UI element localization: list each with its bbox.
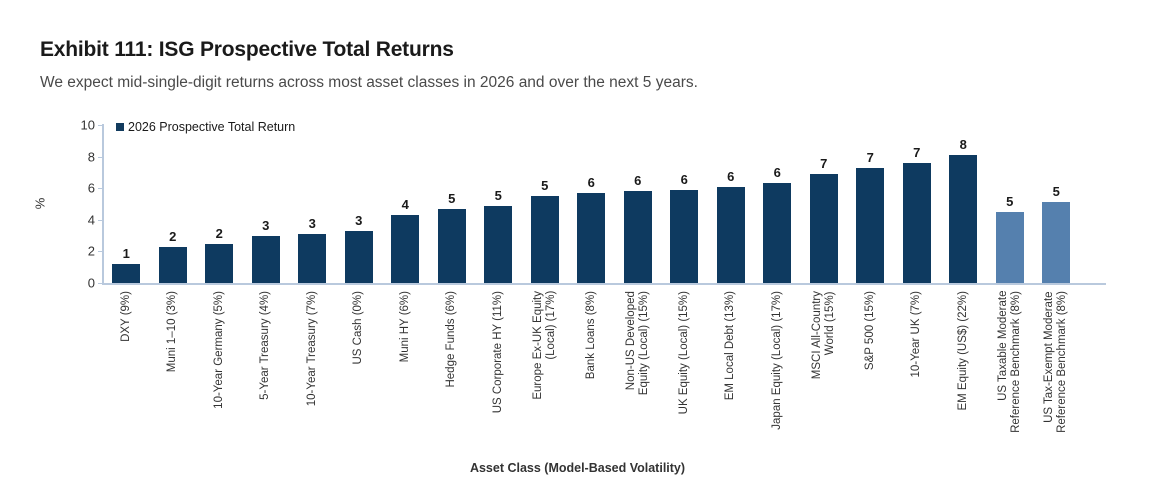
bar-group[interactable]: 6 (615, 125, 662, 283)
chart-bar[interactable] (577, 193, 605, 283)
bar-value-label: 3 (289, 216, 336, 231)
page-title: Exhibit 111: ISG Prospective Total Retur… (40, 38, 454, 62)
chart-bar[interactable] (949, 155, 977, 283)
bar-value-label: 7 (847, 150, 894, 165)
bar-group[interactable]: 3 (289, 125, 336, 283)
x-axis-category-label: MSCI All-Country World (15%) (801, 291, 848, 451)
x-axis-category-label-text: S&P 500 (15%) (864, 291, 877, 370)
bar-value-label: 4 (382, 197, 429, 212)
y-axis-title: % (32, 198, 47, 210)
x-axis-category-label: Muni 1–10 (3%) (150, 291, 197, 451)
bar-value-label: 2 (196, 226, 243, 241)
x-axis-category-label: Bank Loans (8%) (568, 291, 615, 451)
chart-bar[interactable] (298, 234, 326, 283)
bar-group[interactable]: 1 (103, 125, 150, 283)
bar-value-label: 6 (708, 169, 755, 184)
x-axis-category-label-text: US Cash (0%) (352, 291, 365, 365)
x-axis-line (102, 283, 1106, 285)
x-axis-category-label: Muni HY (6%) (382, 291, 429, 451)
x-axis-category-label: EM Local Debt (13%) (708, 291, 755, 451)
bar-group[interactable]: 5 (475, 125, 522, 283)
chart-bar[interactable] (112, 264, 140, 283)
chart-bar[interactable] (1042, 202, 1070, 283)
x-axis-category-label: US Tax-Exempt Moderate Reference Benchma… (1033, 291, 1080, 451)
bar-group[interactable]: 7 (801, 125, 848, 283)
chart-bar[interactable] (903, 163, 931, 283)
bar-group[interactable]: 7 (847, 125, 894, 283)
x-axis-category-label: DXY (9%) (103, 291, 150, 451)
bar-group[interactable]: 6 (708, 125, 755, 283)
bar-group[interactable]: 5 (1033, 125, 1080, 283)
chart-bar[interactable] (484, 206, 512, 283)
x-axis-category-label-text: Europe Ex-UK Equity (Local) (17%) (532, 291, 558, 400)
x-axis-category-label: EM Equity (US$) (22%) (940, 291, 987, 451)
bar-group[interactable]: 2 (150, 125, 197, 283)
chart-bar[interactable] (252, 236, 280, 283)
chart-bar[interactable] (810, 174, 838, 283)
x-axis-category-label: Hedge Funds (6%) (429, 291, 476, 451)
y-axis-tick-label: 10 (81, 118, 95, 133)
x-axis-category-label-text: US Taxable Moderate Reference Benchmark … (997, 291, 1023, 433)
x-axis-category-label-text: UK Equity (Local) (15%) (678, 291, 691, 414)
x-axis-category-label: 5-Year Treasury (4%) (243, 291, 290, 451)
bar-group[interactable]: 3 (243, 125, 290, 283)
x-axis-category-label-text: DXY (9%) (120, 291, 133, 342)
bar-group[interactable]: 6 (754, 125, 801, 283)
y-axis-tick-label: 6 (88, 181, 95, 196)
y-axis-tick-label: 2 (88, 244, 95, 259)
y-axis-tick-label: 8 (88, 149, 95, 164)
bar-group[interactable]: 6 (568, 125, 615, 283)
chart-bar[interactable] (717, 187, 745, 283)
x-axis-category-label-text: Japan Equity (Local) (17%) (771, 291, 784, 430)
chart-bar[interactable] (438, 209, 466, 283)
bar-value-label: 5 (475, 188, 522, 203)
bar-value-label: 5 (1033, 184, 1080, 199)
chart-bar[interactable] (159, 247, 187, 283)
x-axis-category-label: 10-Year UK (7%) (894, 291, 941, 451)
x-axis-category-label: US Taxable Moderate Reference Benchmark … (987, 291, 1034, 451)
bar-value-label: 2 (150, 229, 197, 244)
bar-group[interactable]: 5 (429, 125, 476, 283)
bar-value-label: 1 (103, 246, 150, 261)
chart-bar[interactable] (856, 168, 884, 283)
x-axis-category-label: Non-US Developed Equity (Local) (15%) (615, 291, 662, 451)
x-axis-category-label-text: MSCI All-Country World (15%) (811, 291, 837, 379)
x-axis-category-label: 10-Year Treasury (7%) (289, 291, 336, 451)
x-axis-category-label: UK Equity (Local) (15%) (661, 291, 708, 451)
bar-value-label: 3 (243, 218, 290, 233)
chart-container: Exhibit 111: ISG Prospective Total Retur… (0, 0, 1155, 483)
bar-group[interactable]: 7 (894, 125, 941, 283)
bar-value-label: 7 (801, 156, 848, 171)
y-axis-tick-label: 0 (88, 276, 95, 291)
x-axis-category-label-text: EM Local Debt (13%) (724, 291, 737, 400)
bar-group[interactable]: 2 (196, 125, 243, 283)
bar-value-label: 6 (615, 173, 662, 188)
page-subtitle: We expect mid-single-digit returns acros… (40, 74, 698, 92)
x-axis-category-label-text: EM Equity (US$) (22%) (957, 291, 970, 411)
bar-group[interactable]: 4 (382, 125, 429, 283)
bar-group[interactable]: 5 (987, 125, 1034, 283)
chart-bar[interactable] (391, 215, 419, 283)
x-axis-category-label-text: 5-Year Treasury (4%) (259, 291, 272, 400)
bar-group[interactable]: 8 (940, 125, 987, 283)
chart-bar[interactable] (763, 183, 791, 283)
x-axis-title: Asset Class (Model-Based Volatility) (0, 461, 1155, 475)
x-axis-category-label-text: Hedge Funds (6%) (445, 291, 458, 388)
x-axis-category-label-text: US Corporate HY (11%) (492, 291, 505, 413)
x-axis-category-label: 10-Year Germany (5%) (196, 291, 243, 451)
chart-bar[interactable] (531, 196, 559, 283)
x-axis-category-label-text: 10-Year Germany (5%) (213, 291, 226, 409)
x-axis-category-label-text: Muni 1–10 (3%) (166, 291, 179, 372)
x-axis-category-label-text: Non-US Developed Equity (Local) (15%) (625, 291, 651, 395)
x-axis-category-label: S&P 500 (15%) (847, 291, 894, 451)
y-axis-tick-mark (98, 283, 103, 284)
chart-bar[interactable] (624, 191, 652, 283)
bar-value-label: 6 (568, 175, 615, 190)
x-axis-category-label-text: US Tax-Exempt Moderate Reference Benchma… (1043, 291, 1069, 433)
bar-group[interactable]: 5 (522, 125, 569, 283)
x-axis-category-label-text: Muni HY (6%) (399, 291, 412, 362)
x-axis-category-label: US Cash (0%) (336, 291, 383, 451)
bar-value-label: 7 (894, 145, 941, 160)
bar-group[interactable]: 6 (661, 125, 708, 283)
bar-value-label: 6 (661, 172, 708, 187)
chart-bar[interactable] (345, 231, 373, 283)
bar-value-label: 8 (940, 137, 987, 152)
bar-group[interactable]: 3 (336, 125, 383, 283)
bar-value-label: 5 (987, 194, 1034, 209)
x-axis-category-label: Europe Ex-UK Equity (Local) (17%) (522, 291, 569, 451)
chart-bar[interactable] (996, 212, 1024, 283)
x-axis-category-label: US Corporate HY (11%) (475, 291, 522, 451)
bar-value-label: 5 (522, 178, 569, 193)
x-axis-category-label-text: 10-Year UK (7%) (910, 291, 923, 378)
bar-value-label: 5 (429, 191, 476, 206)
bar-value-label: 3 (336, 213, 383, 228)
chart-bar[interactable] (205, 244, 233, 284)
y-axis-tick-label: 4 (88, 212, 95, 227)
x-axis-category-label: Japan Equity (Local) (17%) (754, 291, 801, 451)
chart-bar[interactable] (670, 190, 698, 283)
x-axis-category-label-text: Bank Loans (8%) (585, 291, 598, 379)
x-axis-category-label-text: 10-Year Treasury (7%) (306, 291, 319, 406)
plot-area: 0246810122333455566666777855 (103, 125, 1105, 283)
bar-value-label: 6 (754, 165, 801, 180)
